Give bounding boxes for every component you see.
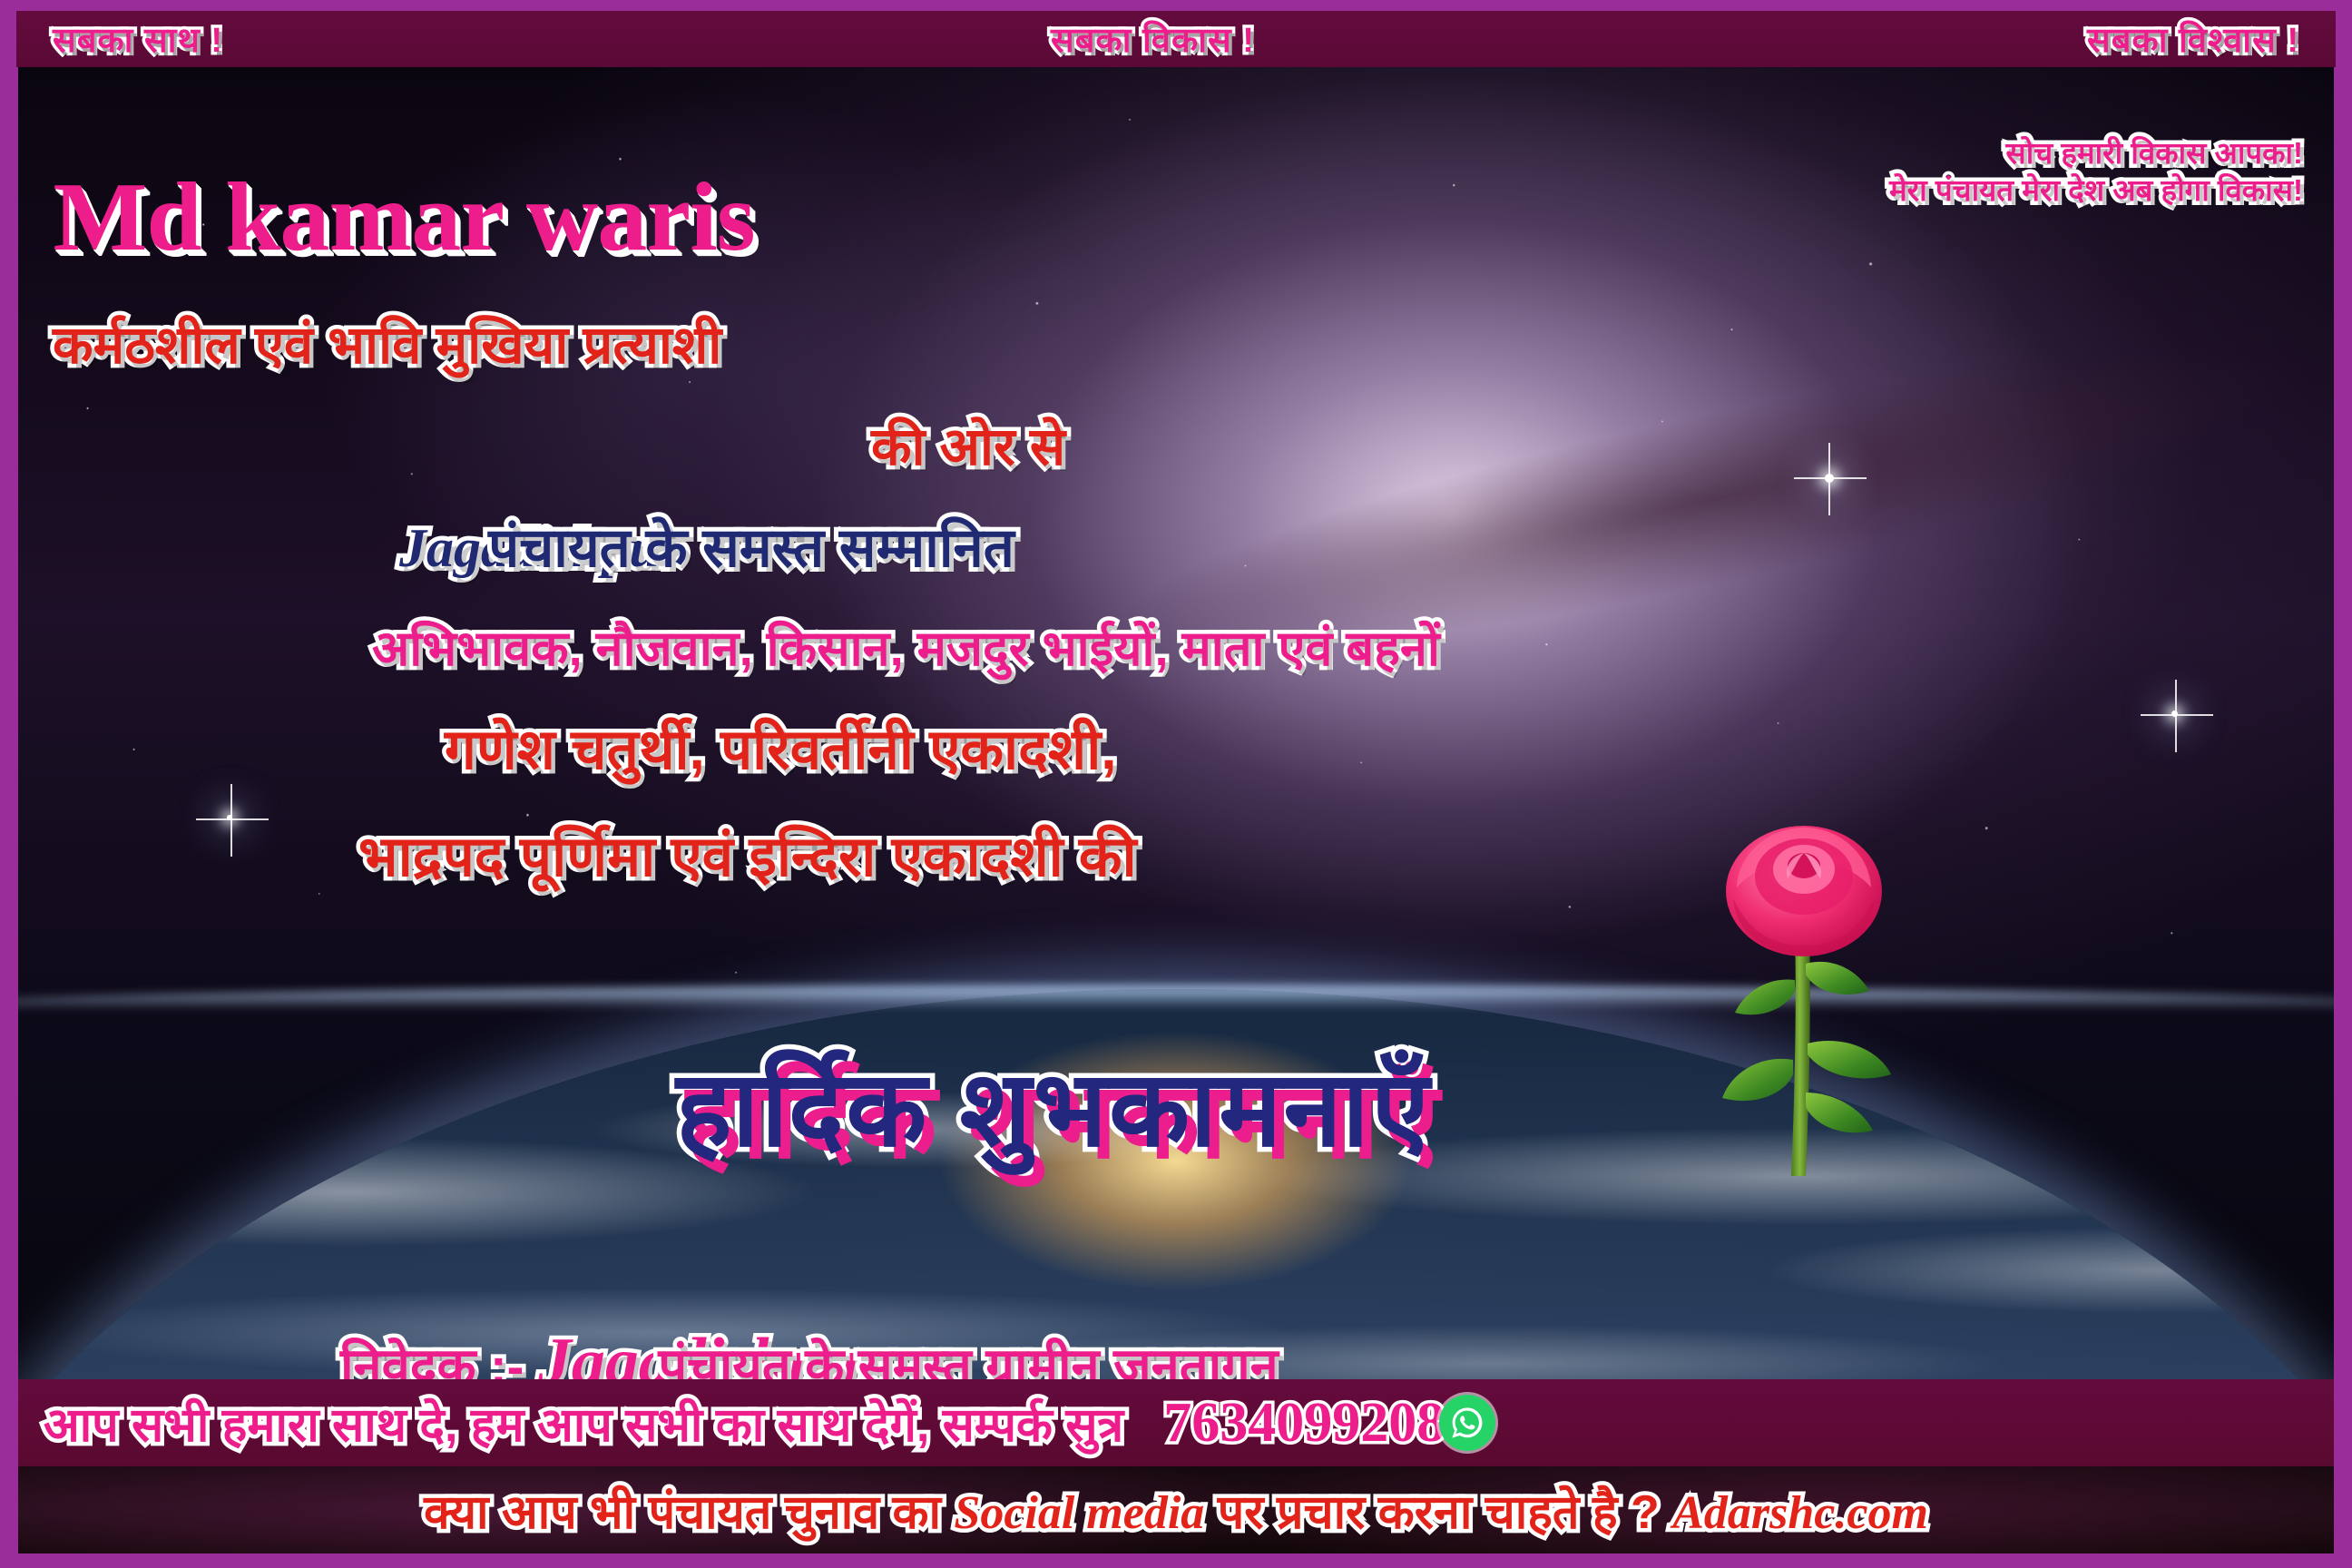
promo-text-after: पर प्रचार करना चाहते है ? — [1204, 1486, 1672, 1539]
candidate-designation: कर्मठशील एवं भावि मुखिया प्रत्याशी — [53, 319, 721, 372]
galaxy-background: सोच हमारी विकास आपका! मेरा पंचायत मेरा द… — [18, 67, 2334, 1379]
promo-text-before: क्या आप भी पंचायत चुनाव का — [424, 1486, 954, 1539]
support-message: आप सभी हमारा साथ दे, हम आप सभी का साथ दे… — [44, 1391, 1123, 1455]
occasion-line-2: भाद्रपद पूर्णिमा एवं इन्दिरा एकादशी की — [358, 829, 1137, 886]
rose-flower-icon — [1697, 820, 1942, 1183]
occasion-line-1: गणेश चतुर्थी, परिवर्तीनी एकादशी, — [445, 722, 1116, 779]
slogan-sabka-vishwas: सबका विश्वास ! — [2087, 15, 2299, 63]
slogan-sabka-vikas: सबका विकास ! — [1051, 15, 1255, 63]
candidate-name: Md kamar waris — [53, 169, 754, 267]
greeting-wish: हार्दिक शुभकामनाएँ — [676, 1056, 1431, 1161]
corner-slogan: सोच हमारी विकास आपका! मेरा पंचायत मेरा द… — [1889, 138, 2303, 205]
from-label: की ओर से — [871, 421, 1065, 474]
election-greeting-poster: सबका साथ ! सबका विकास ! सबका विश्वास ! स… — [0, 0, 2352, 1568]
requester-rest-hindi: पंचायत के समस्त ग्रामीन जनतागन — [658, 1338, 1278, 1379]
promo-text: क्या आप भी पंचायत चुनाव का Social media … — [424, 1478, 1928, 1543]
whatsapp-icon[interactable] — [1439, 1395, 1495, 1451]
promo-highlight: Social media — [954, 1487, 1204, 1539]
earth-clouds — [18, 989, 2334, 1379]
phone-number[interactable]: 7634099208 — [1163, 1391, 1445, 1455]
addressee-people: अभिभावक, नौजवान, किसान, मजदुर भाईयों, मा… — [372, 624, 1440, 673]
earth-horizon — [18, 989, 2334, 1379]
bright-star-icon — [1825, 474, 1834, 483]
corner-slogan-line-1: सोच हमारी विकास आपका! — [2005, 138, 2303, 168]
earth-atmosphere-limb — [18, 985, 2334, 1009]
promo-bar: क्या आप भी पंचायत चुनाव का Social media … — [18, 1466, 2334, 1553]
requester-line: निवेदक :- Jagadishpurपंचायत के समस्त ग्र… — [340, 1328, 1279, 1379]
corner-slogan-line-2: मेरा पंचायत मेरा देश अब होगा विकास! — [1889, 175, 2303, 205]
contact-bar: आप सभी हमारा साथ दे, हम आप सभी का साथ दे… — [18, 1379, 2334, 1466]
slogan-sabka-saath: सबका साथ ! — [53, 15, 223, 63]
bright-star-icon — [2171, 710, 2178, 717]
addressee-panchayat-line: Jagadishpurपंचायत के समस्त सम्मानित — [399, 521, 1014, 575]
bright-star-icon — [227, 815, 232, 820]
panchayat-name-hindi-rest: पंचायत के समस्त सम्मानित — [488, 517, 1014, 578]
top-slogan-bar: सबका साथ ! सबका विकास ! सबका विश्वास ! — [16, 11, 2336, 67]
promo-website[interactable]: Adarshc.com — [1672, 1487, 1928, 1539]
requester-label: निवेदक :- — [340, 1338, 524, 1379]
